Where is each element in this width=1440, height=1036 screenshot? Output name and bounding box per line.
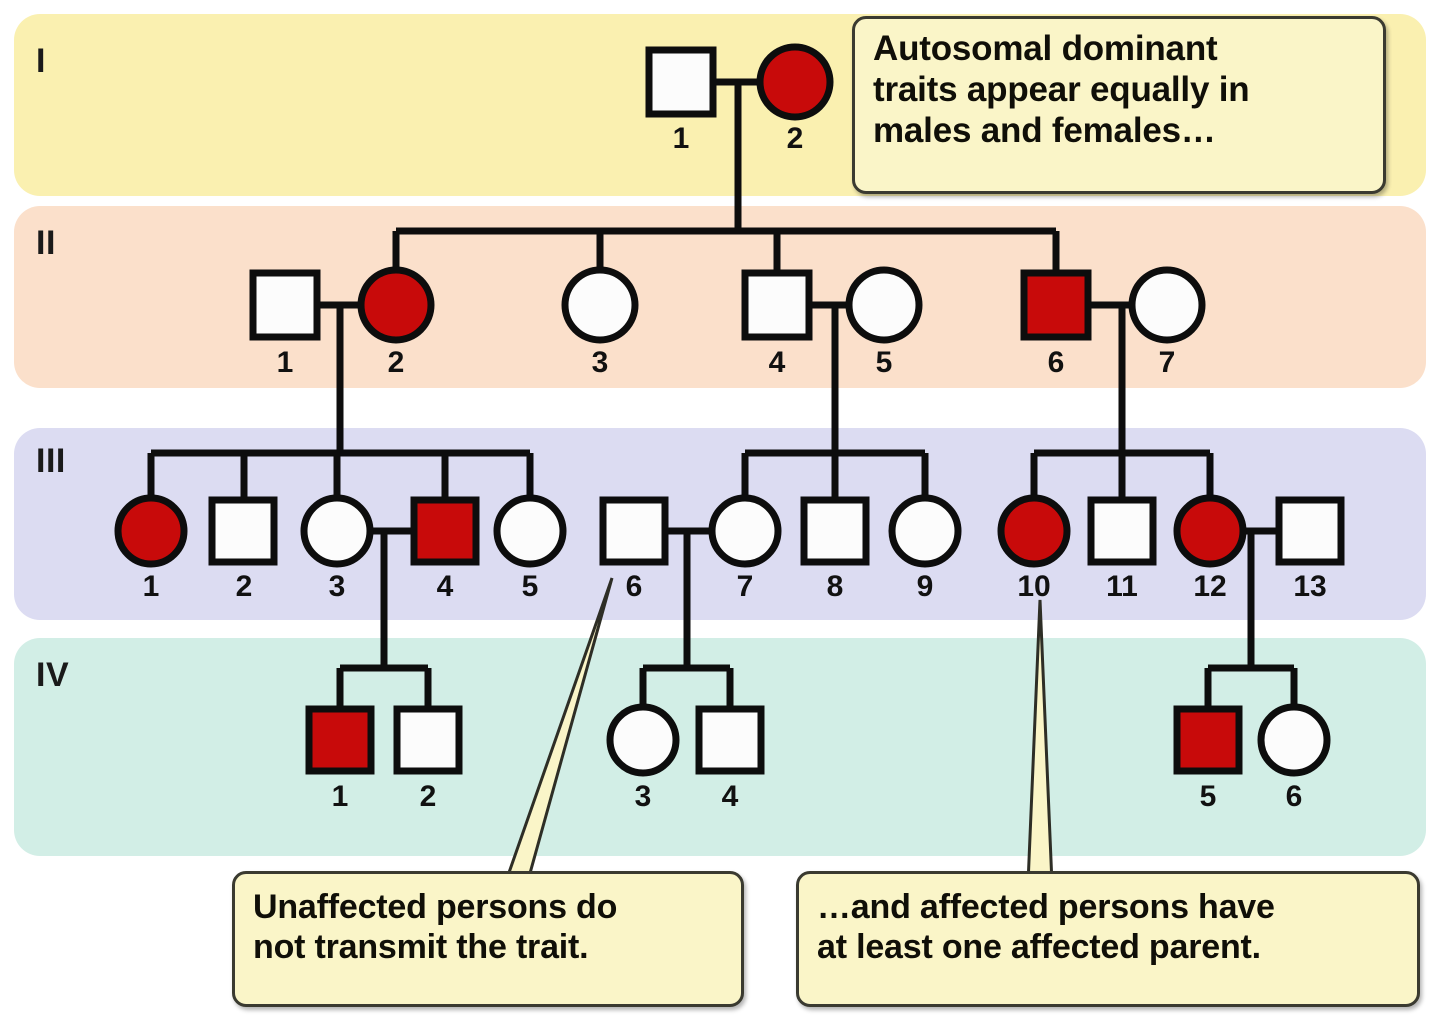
callout-line-2: at least one affected parent. [817, 928, 1401, 968]
individual-III-4-male-affected[interactable] [414, 500, 476, 562]
callout-line-2: traits appear equally in [873, 70, 1367, 111]
individual-number-IV-1: 1 [332, 782, 349, 812]
individual-number-IV-2: 2 [420, 782, 437, 812]
individual-number-IV-3: 3 [635, 782, 652, 812]
symbol-group-generation-III [118, 498, 1341, 564]
callout-line-1: Autosomal dominant [873, 29, 1367, 70]
individual-number-III-11: 11 [1106, 572, 1138, 602]
individual-II-6-male-affected[interactable] [1024, 273, 1088, 337]
individual-number-III-10: 10 [1017, 572, 1050, 602]
individual-IV-2-male-unaffected[interactable] [397, 709, 459, 771]
callout-line-1: …and affected persons have [817, 888, 1401, 928]
individual-number-IV-5: 5 [1200, 782, 1217, 812]
individual-number-III-4: 4 [437, 572, 454, 602]
individual-number-II-6: 6 [1048, 348, 1065, 378]
individual-number-III-1: 1 [143, 572, 160, 602]
individual-III-10-female-affected[interactable] [1001, 498, 1067, 564]
individual-number-II-7: 7 [1159, 348, 1176, 378]
individual-number-III-12: 12 [1193, 572, 1226, 602]
individual-number-III-13: 13 [1293, 572, 1326, 602]
individual-III-1-female-affected[interactable] [118, 498, 184, 564]
individual-number-III-5: 5 [522, 572, 539, 602]
individual-III-11-male-unaffected[interactable] [1091, 500, 1153, 562]
callout-line-1: Unaffected persons do [253, 888, 725, 928]
individual-II-2-female-affected[interactable] [361, 270, 431, 340]
individual-II-7-female-unaffected[interactable] [1132, 270, 1202, 340]
individual-IV-6-female-unaffected[interactable] [1261, 707, 1327, 773]
callout-line-2: not transmit the trait. [253, 928, 725, 968]
callout-line-3: males and females… [873, 111, 1367, 152]
callout-autosomal-dominant: Autosomal dominant traits appear equally… [852, 16, 1386, 194]
individual-number-II-4: 4 [769, 348, 786, 378]
individual-number-III-8: 8 [827, 572, 844, 602]
individual-number-I-1: 1 [673, 124, 690, 154]
individual-III-5-female-unaffected[interactable] [497, 498, 563, 564]
symbol-group-generation-II [253, 270, 1202, 340]
individual-number-III-7: 7 [737, 572, 754, 602]
individual-number-II-5: 5 [876, 348, 893, 378]
individual-number-II-3: 3 [592, 348, 609, 378]
callout-pointer-bottom-right [1028, 600, 1052, 884]
individual-II-4-male-unaffected[interactable] [745, 273, 809, 337]
individual-number-III-9: 9 [917, 572, 934, 602]
callout-pointer-bottom-left [505, 578, 612, 884]
individual-number-II-1: 1 [277, 348, 294, 378]
individual-III-6-male-unaffected[interactable] [603, 500, 665, 562]
individual-III-9-female-unaffected[interactable] [892, 498, 958, 564]
individual-IV-1-male-affected[interactable] [309, 709, 371, 771]
individual-IV-4-male-unaffected[interactable] [699, 709, 761, 771]
callout-unaffected-persons: Unaffected persons do not transmit the t… [232, 871, 744, 1007]
individual-I-2-female-affected[interactable] [760, 47, 830, 117]
individual-III-3-female-unaffected[interactable] [304, 498, 370, 564]
individual-II-5-female-unaffected[interactable] [849, 270, 919, 340]
individual-IV-5-male-affected[interactable] [1177, 709, 1239, 771]
individual-number-IV-4: 4 [722, 782, 739, 812]
individual-I-1-male-unaffected[interactable] [649, 50, 713, 114]
symbol-group-generation-IV [309, 707, 1327, 773]
individual-III-13-male-unaffected[interactable] [1279, 500, 1341, 562]
individual-number-III-6: 6 [626, 572, 643, 602]
individual-number-III-2: 2 [236, 572, 253, 602]
individual-III-2-male-unaffected[interactable] [212, 500, 274, 562]
callout-affected-parent: …and affected persons have at least one … [796, 871, 1420, 1007]
individual-number-IV-6: 6 [1286, 782, 1303, 812]
individual-number-II-2: 2 [388, 348, 405, 378]
individual-II-3-female-unaffected[interactable] [565, 270, 635, 340]
individual-number-III-3: 3 [329, 572, 346, 602]
pedigree-figure: I II III IV [0, 0, 1440, 1036]
individual-IV-3-female-unaffected[interactable] [610, 707, 676, 773]
individual-number-I-2: 2 [787, 124, 804, 154]
individual-III-7-female-unaffected[interactable] [712, 498, 778, 564]
individual-III-8-male-unaffected[interactable] [804, 500, 866, 562]
individual-II-1-male-unaffected[interactable] [253, 273, 317, 337]
individual-III-12-female-affected[interactable] [1177, 498, 1243, 564]
